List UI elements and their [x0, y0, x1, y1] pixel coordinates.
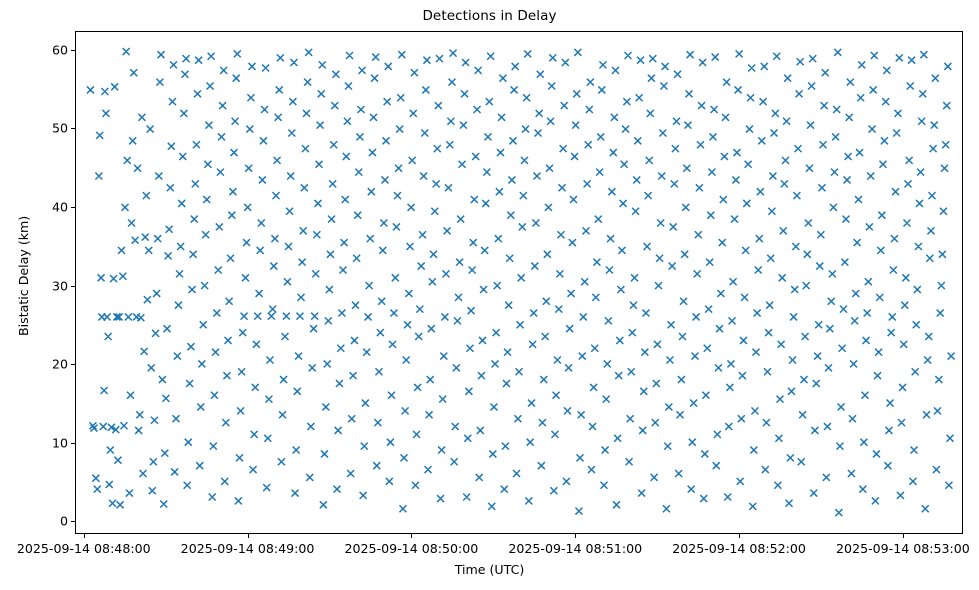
- y-tick-label: 0: [30, 514, 68, 529]
- y-tick-label: 20: [30, 357, 68, 372]
- x-tick-mark: [411, 534, 412, 538]
- x-tick-mark: [575, 534, 576, 538]
- x-tick-mark: [248, 534, 249, 538]
- y-tick-label: 30: [30, 278, 68, 293]
- x-axis-label: Time (UTC): [0, 562, 979, 577]
- x-tick-label: 2025-09-14 08:48:00: [17, 541, 151, 556]
- x-tick-label: 2025-09-14 08:51:00: [508, 541, 642, 556]
- plot-area: [75, 31, 963, 534]
- chart-title: Detections in Delay: [0, 8, 979, 24]
- matplotlib-figure: Detections in Delay Bistatic Delay (km) …: [0, 0, 979, 590]
- x-tick-label: 2025-09-14 08:49:00: [181, 541, 315, 556]
- y-axis-label: Bistatic Delay (km): [16, 216, 31, 336]
- scatter-series: [76, 32, 962, 533]
- x-tick-mark: [903, 534, 904, 538]
- x-tick-label: 2025-09-14 08:52:00: [672, 541, 806, 556]
- x-tick-mark: [739, 534, 740, 538]
- y-tick-label: 50: [30, 121, 68, 136]
- x-tick-label: 2025-09-14 08:50:00: [345, 541, 479, 556]
- scatter-points: [87, 48, 955, 516]
- x-tick-label: 2025-09-14 08:53:00: [836, 541, 970, 556]
- x-tick-mark: [84, 534, 85, 538]
- y-tick-label: 40: [30, 200, 68, 215]
- y-tick-label: 10: [30, 435, 68, 450]
- y-tick-label: 60: [30, 42, 68, 57]
